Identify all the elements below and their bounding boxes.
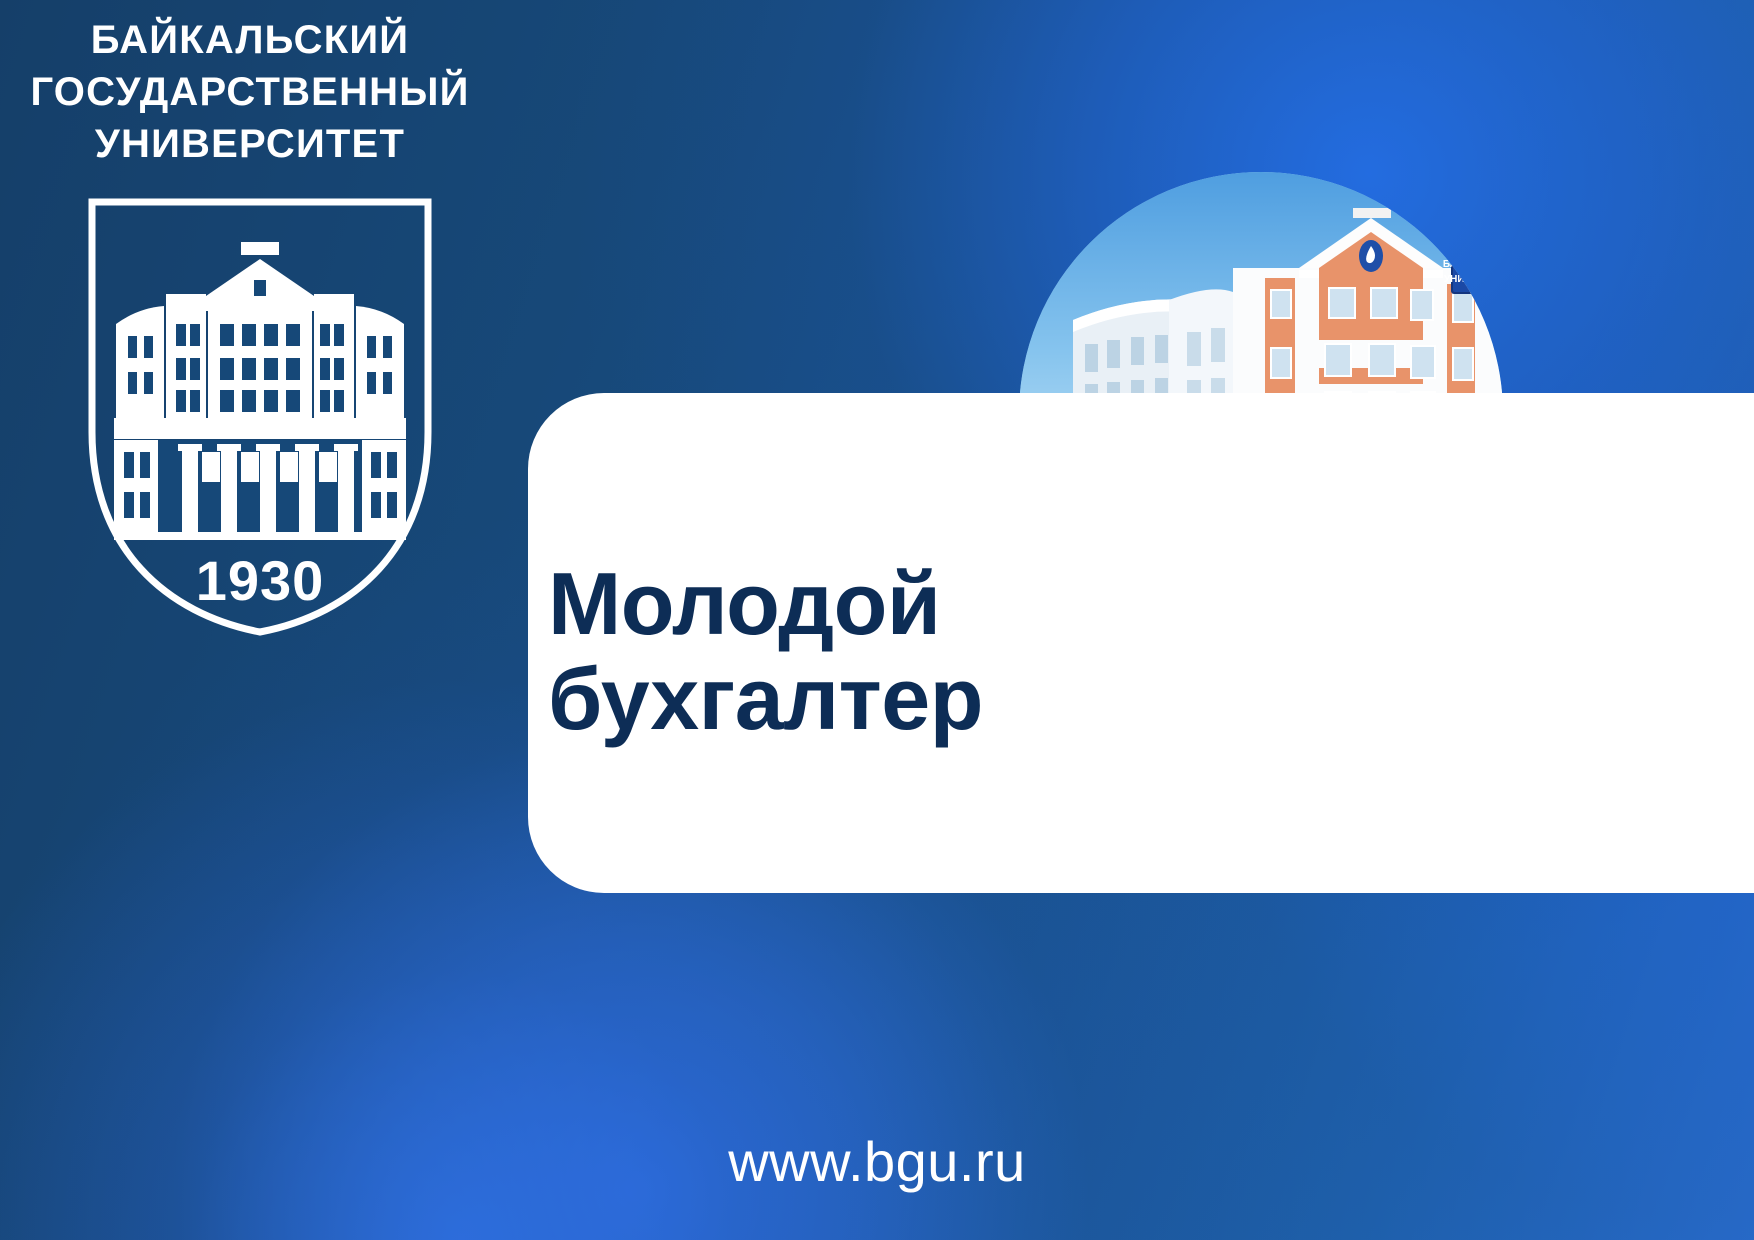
wordmark-line-1: БАЙКАЛЬСКИЙ <box>0 14 500 66</box>
poster-canvas: БАЙКАЛЬСКИЙ ГОСУДАРСТВЕННЫЙ УНИВЕРСИТЕТ <box>0 0 1754 1240</box>
emblem-building <box>114 242 406 540</box>
page-title: Молодой бухгалтер <box>548 556 1448 746</box>
wordmark-line-3: УНИВЕРСИТЕТ <box>0 118 500 170</box>
title-line-1: Молодой <box>548 556 1448 651</box>
wordmark-line-2: ГОСУДАРСТВЕННЫЙ <box>0 66 500 118</box>
emblem-year: 1930 <box>196 549 325 612</box>
university-wordmark: БАЙКАЛЬСКИЙ ГОСУДАРСТВЕННЫЙ УНИВЕРСИТЕТ <box>0 14 500 170</box>
title-line-2: бухгалтер <box>548 651 1448 746</box>
shield-emblem-icon: 1930 <box>86 196 434 638</box>
website-url[interactable]: www.bgu.ru <box>0 1129 1754 1194</box>
